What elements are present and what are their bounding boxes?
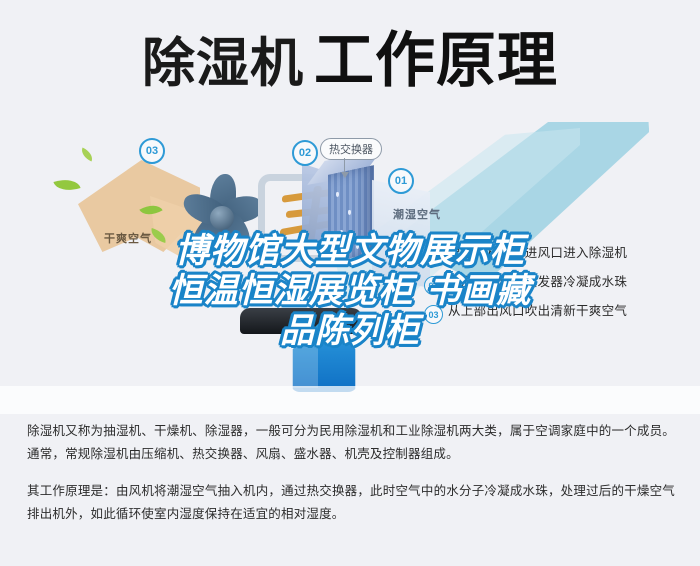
callout-pointer-icon bbox=[344, 158, 345, 174]
diagram-stage: 干爽空气 bbox=[0, 122, 700, 397]
fan-icon bbox=[176, 164, 270, 256]
paragraph-definition: 除湿机又称为抽湿机、干燥机、除湿器，一般可分为民用除湿机和工业除湿机两大类，属于… bbox=[27, 420, 675, 466]
condensate-drop-icon bbox=[336, 192, 339, 197]
body-copy: 除湿机又称为抽湿机、干燥机、除湿器，一般可分为民用除湿机和工业除湿机两大类，属于… bbox=[27, 420, 675, 541]
leaf-icon bbox=[79, 147, 95, 161]
step-item: 03 从上部出风口吹出清新干爽空气 bbox=[424, 304, 700, 324]
step-item: 01 湿空气从下部进风口进入除湿机 bbox=[424, 246, 700, 266]
title-band: 除湿机 工作原理 bbox=[0, 0, 700, 122]
paragraph-principle: 其工作原理是：由风机将潮湿空气抽入机内，通过热交换器，此时空气中的水分子冷凝成水… bbox=[27, 480, 675, 526]
page-title: 除湿机 工作原理 bbox=[142, 31, 558, 91]
step-text: 湿空气从下部进风口进入除湿机 bbox=[448, 246, 627, 262]
step-number: 01 bbox=[424, 247, 443, 266]
badge-02: 02 bbox=[292, 140, 318, 166]
condensate-drop-icon bbox=[356, 244, 359, 249]
machine-front-panel bbox=[372, 180, 430, 288]
title-part-one: 除湿机 bbox=[142, 37, 304, 90]
water-tank-label: 水箱 bbox=[300, 330, 356, 345]
section-divider bbox=[0, 386, 700, 414]
step-item: 02 潮湿空气经过蒸发器冷凝成水珠 bbox=[424, 275, 700, 295]
fan-hub bbox=[210, 206, 234, 230]
humid-air-label: 潮湿空气 bbox=[393, 206, 441, 222]
badge-03: 03 bbox=[139, 138, 165, 164]
heat-exchanger-callout: 热交换器 bbox=[320, 138, 382, 160]
badge-01: 01 bbox=[388, 168, 414, 194]
step-text: 潮湿空气经过蒸发器冷凝成水珠 bbox=[448, 275, 627, 291]
step-number: 02 bbox=[424, 276, 443, 295]
condensate-drop-icon bbox=[348, 210, 351, 215]
dry-air-label: 干爽空气 bbox=[104, 230, 152, 246]
step-list: 01 湿空气从下部进风口进入除湿机 02 潮湿空气经过蒸发器冷凝成水珠 03 从… bbox=[424, 246, 700, 333]
title-part-two: 工作原理 bbox=[314, 31, 558, 91]
infographic-page: 除湿机 工作原理 干爽空气 bbox=[0, 0, 700, 566]
evaporator-icon bbox=[328, 165, 374, 263]
condensate-drop-icon bbox=[340, 230, 343, 235]
step-number: 03 bbox=[424, 305, 443, 324]
leaf-icon bbox=[53, 175, 80, 196]
step-text: 从上部出风口吹出清新干爽空气 bbox=[448, 304, 627, 320]
